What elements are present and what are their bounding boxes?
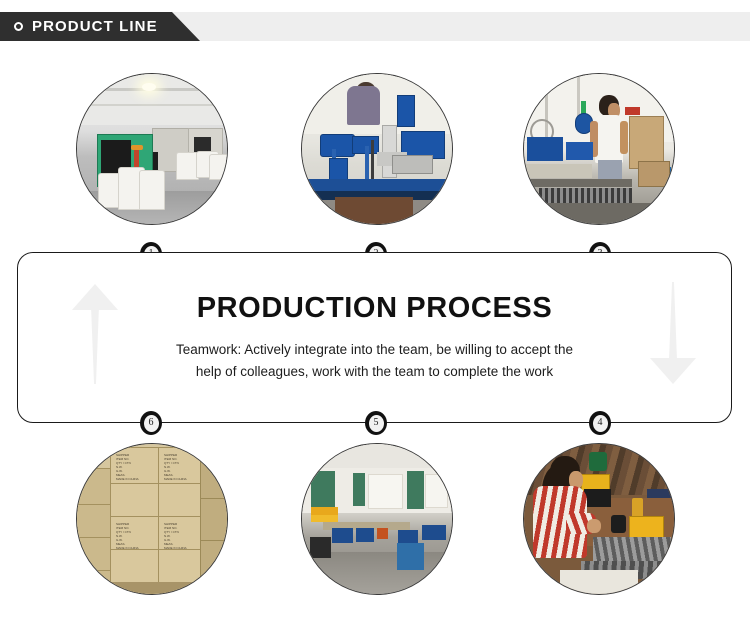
process-title: PRODUCTION PROCESS [197,292,553,325]
scene-bench-assembler [524,444,674,594]
scene-assembly-line-worker [524,74,674,224]
page-title: PRODUCT LINE [32,18,158,35]
carton-label-text: SHIPPER ITEM NO. QTY / CTN N.W. G.W. MEA… [116,522,139,550]
step-number: 4 [593,415,608,432]
step-badge-5: 5 [365,411,387,435]
step-number: 5 [369,415,384,432]
carton-label-text: SHIPPER ITEM NO. QTY / CTN N.W. G.W. MEA… [164,453,187,481]
step-badge-6: 6 [140,411,162,435]
photo-circle-step-6: SHIPPER ITEM NO. QTY / CTN N.W. G.W. MEA… [76,443,228,595]
step-number: 6 [144,415,159,432]
photo-circle-step-3 [523,73,675,225]
photo-circle-step-4 [523,443,675,595]
process-description: Teamwork: Actively integrate into the te… [175,339,575,383]
photo-circle-step-1 [76,73,228,225]
scene-moulding-machine [77,74,227,224]
carton-label-text: SHIPPER ITEM NO. QTY / CTN N.W. G.W. MEA… [116,453,139,481]
step-badge-4: 4 [589,411,611,435]
scene-packed-cartons: SHIPPER ITEM NO. QTY / CTN N.W. G.W. MEA… [77,444,227,594]
production-process-panel: PRODUCTION PROCESS Teamwork: Actively in… [17,252,732,423]
scene-workshop-interior [302,444,452,594]
arrow-down-icon [650,282,696,384]
photo-circle-step-5 [301,443,453,595]
ring-icon [14,22,23,31]
scene-blue-machine-operator [302,74,452,224]
product-line-page: PRODUCT LINE [0,0,750,624]
carton-label-text: SHIPPER ITEM NO. QTY / CTN N.W. G.W. MEA… [164,522,187,550]
header-tab: PRODUCT LINE [0,12,200,41]
photo-circle-step-2 [301,73,453,225]
arrow-up-icon [72,284,118,384]
